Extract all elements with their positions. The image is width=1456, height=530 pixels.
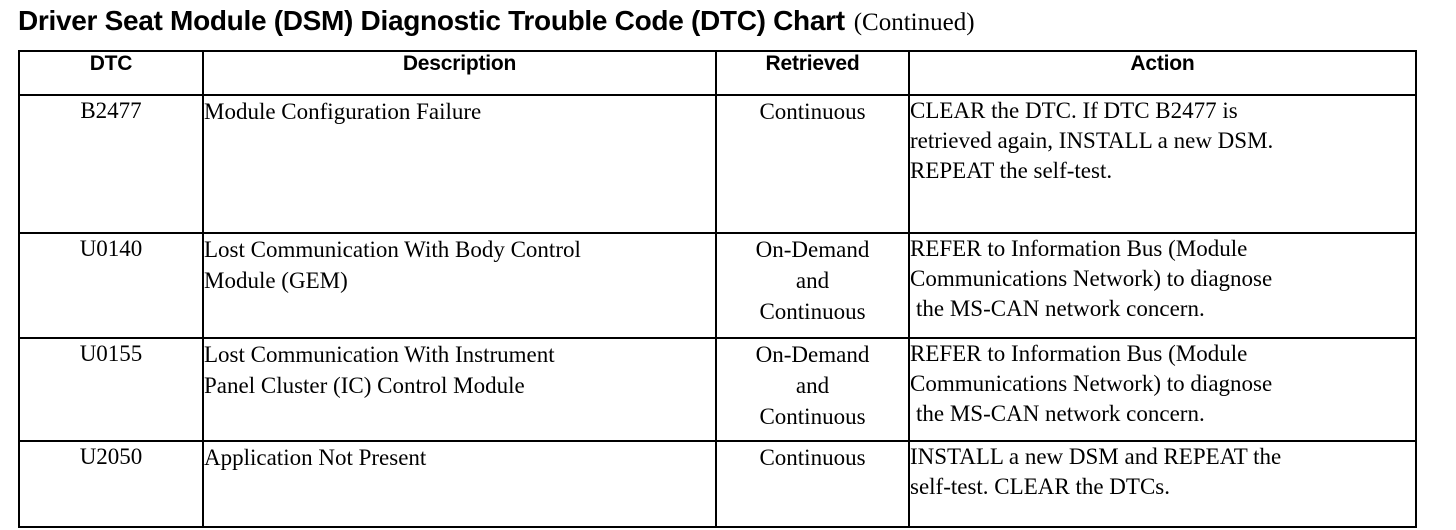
table-body: B2477 Module Configuration Failure Conti… <box>19 95 1416 527</box>
cell-action: CLEAR the DTC. If DTC B2477 is retrieved… <box>909 95 1416 233</box>
retrieved-line: Continuous <box>717 442 908 473</box>
cell-retrieved: Continuous <box>716 95 909 233</box>
dtc-chart-table: DTC Description Retrieved Action B2477 M… <box>18 50 1417 528</box>
description-line: Lost Communication With Body Control <box>204 234 715 265</box>
action-line: REPEAT the self-test. <box>910 156 1415 186</box>
description-line: Panel Cluster (IC) Control Module <box>204 370 715 401</box>
page-title-main: Driver Seat Module (DSM) Diagnostic Trou… <box>18 4 845 38</box>
column-header-action: Action <box>909 51 1416 95</box>
description-line: Module Configuration Failure <box>204 96 715 127</box>
retrieved-line: Continuous <box>717 96 908 127</box>
page-title: Driver Seat Module (DSM) Diagnostic Trou… <box>18 4 975 44</box>
table-header: DTC Description Retrieved Action <box>19 51 1416 95</box>
action-line: REFER to Information Bus (Module <box>910 339 1415 369</box>
retrieved-line: Continuous <box>717 296 908 327</box>
table-row: U0140 Lost Communication With Body Contr… <box>19 233 1416 338</box>
column-header-dtc: DTC <box>19 51 203 95</box>
cell-retrieved: On-Demand and Continuous <box>716 233 909 338</box>
description-line: Module (GEM) <box>204 265 715 296</box>
action-line: the MS-CAN network concern. <box>910 294 1415 324</box>
cell-description: Application Not Present <box>203 441 716 527</box>
cell-action: REFER to Information Bus (Module Communi… <box>909 338 1416 441</box>
action-line: Communications Network) to diagnose <box>910 264 1415 294</box>
cell-retrieved: Continuous <box>716 441 909 527</box>
table-row: U2050 Application Not Present Continuous… <box>19 441 1416 527</box>
column-header-description: Description <box>203 51 716 95</box>
action-line: CLEAR the DTC. If DTC B2477 is <box>910 96 1415 126</box>
retrieved-line: and <box>717 370 908 401</box>
cell-dtc-code: U2050 <box>19 441 203 527</box>
cell-dtc-code: B2477 <box>19 95 203 233</box>
action-line: INSTALL a new DSM and REPEAT the <box>910 442 1415 472</box>
column-header-retrieved: Retrieved <box>716 51 909 95</box>
cell-retrieved: On-Demand and Continuous <box>716 338 909 441</box>
retrieved-line: Continuous <box>717 401 908 432</box>
action-line: retrieved again, INSTALL a new DSM. <box>910 126 1415 156</box>
description-line: Application Not Present <box>204 442 715 473</box>
action-line: REFER to Information Bus (Module <box>910 234 1415 264</box>
page-title-continued: (Continued) <box>854 6 975 40</box>
action-line: Communications Network) to diagnose <box>910 369 1415 399</box>
cell-description: Lost Communication With Body Control Mod… <box>203 233 716 338</box>
table-row: U0155 Lost Communication With Instrument… <box>19 338 1416 441</box>
table-row: B2477 Module Configuration Failure Conti… <box>19 95 1416 233</box>
retrieved-line: On-Demand <box>717 234 908 265</box>
action-line: self-test. CLEAR the DTCs. <box>910 472 1415 502</box>
document-page: Driver Seat Module (DSM) Diagnostic Trou… <box>0 0 1456 530</box>
cell-dtc-code: U0140 <box>19 233 203 338</box>
cell-dtc-code: U0155 <box>19 338 203 441</box>
description-line: Lost Communication With Instrument <box>204 339 715 370</box>
cell-description: Module Configuration Failure <box>203 95 716 233</box>
action-line: the MS-CAN network concern. <box>910 399 1415 429</box>
cell-action: REFER to Information Bus (Module Communi… <box>909 233 1416 338</box>
cell-action: INSTALL a new DSM and REPEAT the self-te… <box>909 441 1416 527</box>
retrieved-line: and <box>717 265 908 296</box>
cell-description: Lost Communication With Instrument Panel… <box>203 338 716 441</box>
retrieved-line: On-Demand <box>717 339 908 370</box>
table-header-row: DTC Description Retrieved Action <box>19 51 1416 95</box>
